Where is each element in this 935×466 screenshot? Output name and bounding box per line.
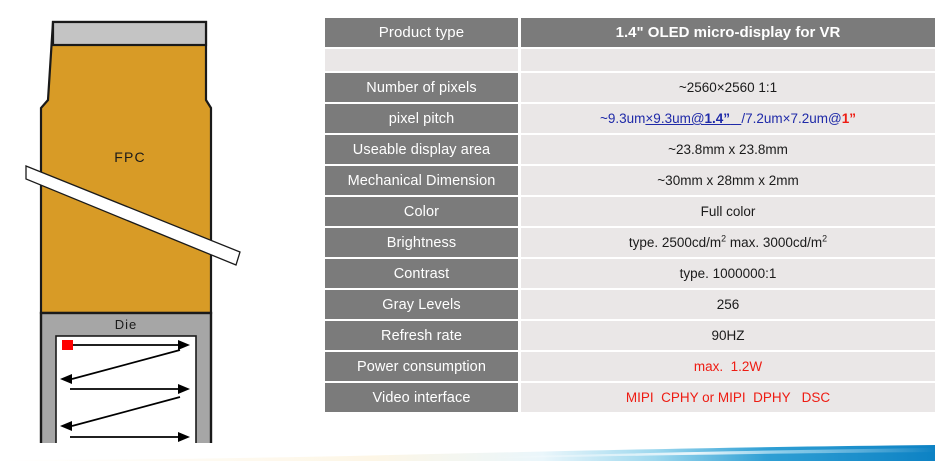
value-text-run: 2 <box>822 234 827 244</box>
row-value-cell: MIPI CPHY or MIPI DPHY DSC <box>521 383 935 412</box>
table-row: ColorFull color <box>325 197 935 226</box>
row-value-cell: ~9.3um×9.3um@1.4” /7.2um×7.2um@1” <box>521 104 935 133</box>
fpc-body-shape <box>41 22 211 313</box>
row-value-rich-text: max. 1.2W <box>694 359 762 374</box>
table-row: pixel pitch~9.3um×9.3um@1.4” /7.2um×7.2u… <box>325 104 935 133</box>
header-label-cell: Product type <box>325 18 518 47</box>
value-text-run: max. 3000cd/m <box>726 235 822 250</box>
row-label-cell: Contrast <box>325 259 518 288</box>
row-value-cell: ~23.8mm x 23.8mm <box>521 135 935 164</box>
value-text-run: 1.4” <box>705 111 731 126</box>
value-text-run: ×9.3um@ <box>645 111 704 126</box>
table-row: Refresh rate90HZ <box>325 321 935 350</box>
spacer-value-cell <box>521 49 935 71</box>
row-value-cell: Full color <box>521 197 935 226</box>
row-value-cell: 90HZ <box>521 321 935 350</box>
table-row: Contrasttype. 1000000:1 <box>325 259 935 288</box>
row-value-cell: ~30mm x 28mm x 2mm <box>521 166 935 195</box>
value-text-run: max. 1.2W <box>694 359 762 374</box>
row-label-cell: Gray Levels <box>325 290 518 319</box>
fpc-die-illustration: FPC Die <box>0 0 322 461</box>
spacer-label-cell <box>325 49 518 71</box>
table-header-row: Product type 1.4" OLED micro-display for… <box>325 18 935 47</box>
table-row: Brightnesstype. 2500cd/m2 max. 3000cd/m2 <box>325 228 935 257</box>
row-value-cell: ~2560×2560 1:1 <box>521 73 935 102</box>
fpc-connector-bar <box>53 22 206 45</box>
specification-table: Product type 1.4" OLED micro-display for… <box>325 18 935 414</box>
row-value-cell: type. 1000000:1 <box>521 259 935 288</box>
scan-start-marker-icon <box>62 340 73 350</box>
table-row: Mechanical Dimension~30mm x 28mm x 2mm <box>325 166 935 195</box>
value-text-run: 1” <box>842 111 856 126</box>
row-label-cell: Mechanical Dimension <box>325 166 518 195</box>
die-label: Die <box>115 317 138 332</box>
table-body: Number of pixels~2560×2560 1:1pixel pitc… <box>325 73 935 412</box>
fpc-die-diagram: FPC Die <box>0 0 322 461</box>
table-row: Gray Levels256 <box>325 290 935 319</box>
value-text-run: ~9.3um <box>600 111 645 126</box>
row-value-cell: 256 <box>521 290 935 319</box>
row-value-cell: type. 2500cd/m2 max. 3000cd/m2 <box>521 228 935 257</box>
die-active-area <box>56 336 196 451</box>
table-row: Number of pixels~2560×2560 1:1 <box>325 73 935 102</box>
fpc-label: FPC <box>114 149 146 165</box>
row-value-cell: max. 1.2W <box>521 352 935 381</box>
row-label-cell: Number of pixels <box>325 73 518 102</box>
value-text-run <box>730 111 741 126</box>
row-label-cell: Useable display area <box>325 135 518 164</box>
row-label-cell: Power consumption <box>325 352 518 381</box>
row-value-rich-text: type. 2500cd/m2 max. 3000cd/m2 <box>629 235 827 250</box>
row-value-rich-text: MIPI CPHY or MIPI DPHY DSC <box>626 390 830 405</box>
row-label-cell: Color <box>325 197 518 226</box>
table-row: Useable display area~23.8mm x 23.8mm <box>325 135 935 164</box>
table-row: Video interfaceMIPI CPHY or MIPI DPHY DS… <box>325 383 935 412</box>
table-spacer-row <box>325 49 935 71</box>
row-label-cell: Video interface <box>325 383 518 412</box>
value-text-run: type. 2500cd/m <box>629 235 721 250</box>
row-label-cell: Brightness <box>325 228 518 257</box>
row-label-cell: Refresh rate <box>325 321 518 350</box>
value-text-run: MIPI CPHY or MIPI DPHY DSC <box>626 390 830 405</box>
row-label-cell: pixel pitch <box>325 104 518 133</box>
row-value-rich-text: ~9.3um×9.3um@1.4” /7.2um×7.2um@1” <box>600 111 856 126</box>
table-row: Power consumptionmax. 1.2W <box>325 352 935 381</box>
header-value-cell: 1.4" OLED micro-display for VR <box>521 18 935 47</box>
value-text-run: /7.2um×7.2um@ <box>741 111 841 126</box>
